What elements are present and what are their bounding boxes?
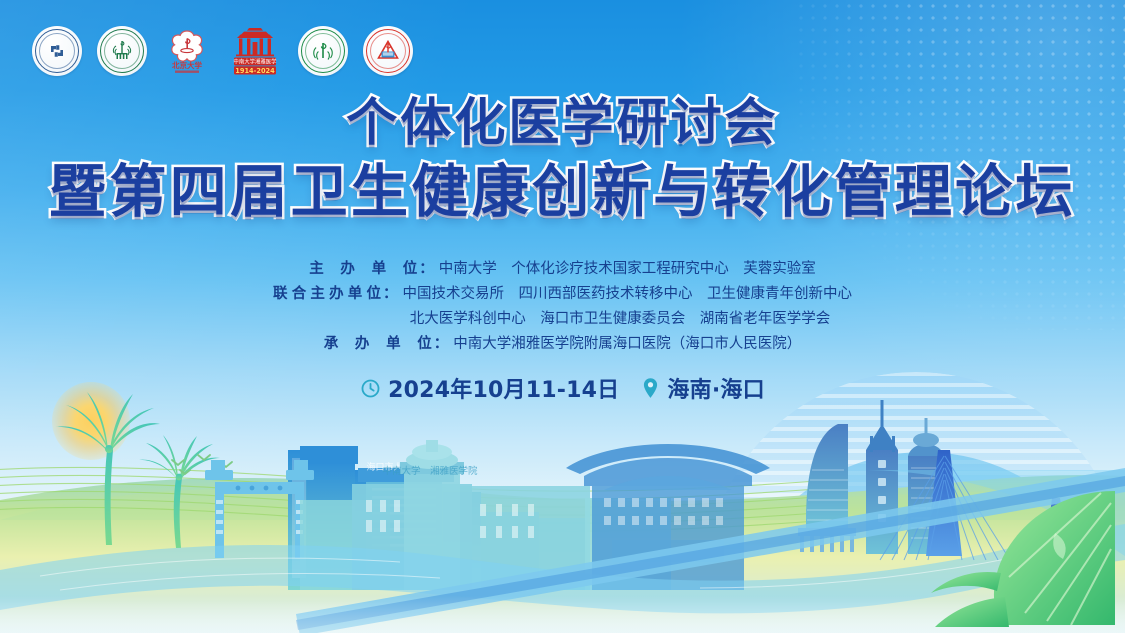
- event-location: 海南·海口: [641, 372, 764, 404]
- event-date-text: 2024年10月11-14日: [388, 372, 619, 404]
- organizer-value: 中国技术交易所 四川西部医药技术转移中心 卫生健康青年创新中心: [403, 283, 853, 305]
- conference-poster: 北京大学 中南大学湘雅医学 1: [0, 0, 1125, 633]
- monstera-leaf-illustration: [905, 473, 1125, 633]
- logo-haikou-peoples-hospital: [361, 24, 415, 78]
- organizer-block: 主办单位 ： 中南大学 个体化诊疗技术国家工程研究中心 芙蓉实验室 联合主办单位…: [0, 258, 1125, 355]
- organizer-label: 承办单位: [324, 333, 432, 355]
- organizer-colon: ：: [434, 333, 449, 355]
- xiangya-gate-icon: 中南大学湘雅医学 1914-2024: [225, 25, 285, 77]
- sponsor-logo-strip: 北京大学 中南大学湘雅医学 1: [30, 24, 415, 78]
- logo-central-south-university: [30, 24, 84, 78]
- pku-emblem-icon: 北京大学: [162, 26, 212, 76]
- xiangya-emblem-icon: [107, 36, 137, 66]
- map-pin-icon: [641, 377, 660, 400]
- logo-haikou-health-commission: [296, 24, 350, 78]
- organizer-value: 中南大学湘雅医学院附属海口医院（海口市人民医院）: [453, 333, 801, 355]
- title-line-2: 暨第四届卫生健康创新与转化管理论坛: [0, 158, 1125, 226]
- organizer-row: 主办单位 ： 中南大学 个体化诊疗技术国家工程研究中心 芙蓉实验室: [309, 258, 816, 280]
- organizer-value: 北大医学科创中心 海口市卫生健康委员会 湖南省老年医学学会: [410, 308, 831, 330]
- organizer-label: 主办单位: [309, 258, 417, 280]
- organizer-label: 联合主办单位: [273, 283, 381, 305]
- xiangya-building-label: 中南大学 湘雅医学院: [382, 465, 478, 477]
- event-location-text: 海南·海口: [667, 372, 764, 404]
- svg-text:中南大学湘雅医学: 中南大学湘雅医学: [233, 58, 277, 66]
- poster-title-block: 个体化医学研讨会 暨第四届卫生健康创新与转化管理论坛: [0, 94, 1125, 226]
- logo-peking-university: 北京大学: [160, 24, 214, 78]
- organizer-row: 联合主办单位 ： 中国技术交易所 四川西部医药技术转移中心 卫生健康青年创新中心: [273, 283, 852, 305]
- health-commission-emblem-icon: [308, 36, 338, 66]
- organizer-colon: ：: [383, 283, 398, 305]
- organizer-colon: ：: [419, 258, 434, 280]
- organizer-value: 中南大学 个体化诊疗技术国家工程研究中心 芙蓉实验室: [439, 258, 816, 280]
- organizer-row: 北大医学科创中心 海口市卫生健康委员会 湖南省老年医学学会: [295, 308, 831, 330]
- svg-text:北京大学: 北京大学: [172, 60, 202, 70]
- logo-xiangya-110-anniversary: 中南大学湘雅医学 1914-2024: [225, 24, 285, 78]
- event-date: 2024年10月11-14日: [360, 372, 619, 404]
- clock-icon: [360, 378, 381, 399]
- title-line-1: 个体化医学研讨会: [0, 94, 1125, 154]
- organizer-row: 承办单位 ： 中南大学湘雅医学院附属海口医院（海口市人民医院）: [324, 333, 802, 355]
- event-meta-row: 2024年10月11-14日 海南·海口: [0, 372, 1125, 404]
- svg-text:1914-2024: 1914-2024: [235, 67, 275, 75]
- hospital-emblem-icon: [372, 35, 404, 67]
- logo-xiangya-school-of-medicine: [95, 24, 149, 78]
- csu-emblem-icon: [44, 38, 70, 64]
